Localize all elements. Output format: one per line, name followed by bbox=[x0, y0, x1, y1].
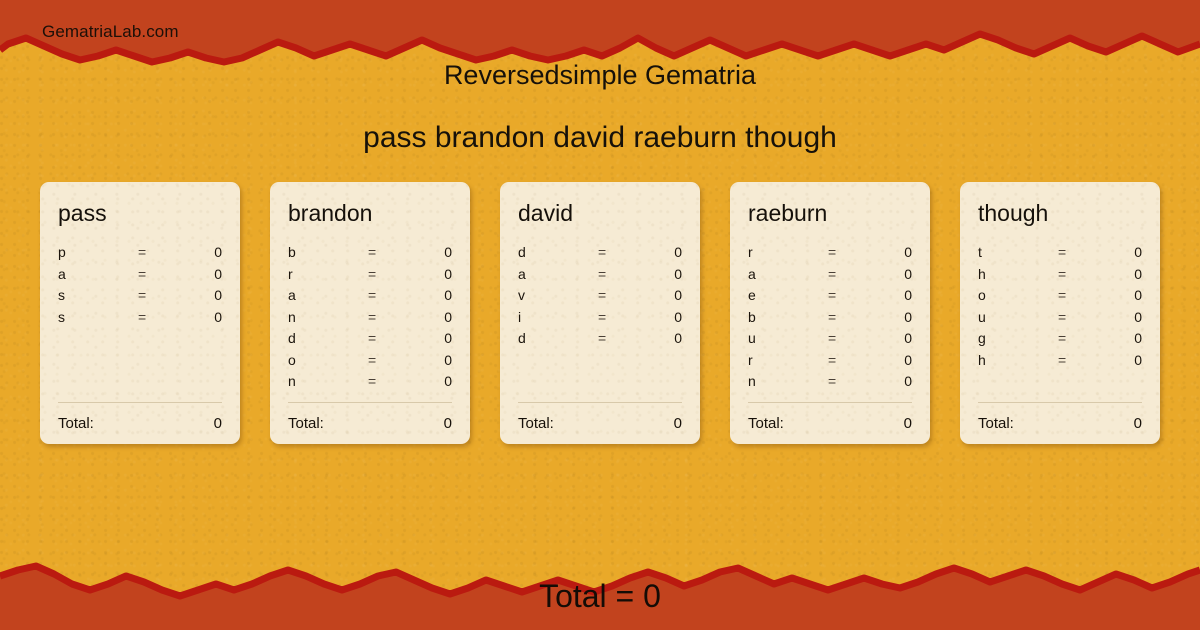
equals-sign: = bbox=[828, 244, 878, 260]
letter-value-row: o=0 bbox=[976, 287, 1144, 309]
letter-label: e bbox=[746, 287, 828, 303]
letter-value: 0 bbox=[188, 266, 224, 282]
card-total-value: 0 bbox=[904, 415, 914, 432]
letter-value: 0 bbox=[878, 352, 914, 368]
letter-value-row: r=0 bbox=[746, 352, 914, 374]
letter-value: 0 bbox=[188, 287, 224, 303]
letter-label: d bbox=[286, 330, 368, 346]
card-total-value: 0 bbox=[674, 415, 684, 432]
letter-value: 0 bbox=[418, 352, 454, 368]
letter-value: 0 bbox=[878, 330, 914, 346]
letter-value: 0 bbox=[648, 287, 684, 303]
card-word-title: raeburn bbox=[748, 202, 914, 232]
word-card: davidd=0a=0v=0i=0d=0Total:0 bbox=[500, 182, 700, 444]
letter-value: 0 bbox=[1108, 309, 1144, 325]
phrase-heading: pass brandon david raeburn though bbox=[0, 121, 1200, 155]
letter-label: i bbox=[516, 309, 598, 325]
grand-total: Total = 0 bbox=[0, 578, 1200, 615]
card-total-value: 0 bbox=[214, 415, 224, 432]
equals-sign: = bbox=[598, 287, 648, 303]
letter-value-row: a=0 bbox=[516, 266, 684, 288]
card-divider bbox=[288, 402, 452, 403]
letter-value-row: r=0 bbox=[286, 266, 454, 288]
card-total-label: Total: bbox=[56, 415, 214, 432]
equals-sign: = bbox=[368, 373, 418, 389]
letter-value: 0 bbox=[878, 309, 914, 325]
card-divider bbox=[58, 402, 222, 403]
card-total-row: Total:0 bbox=[746, 415, 914, 432]
letter-value: 0 bbox=[418, 309, 454, 325]
letter-value-row: b=0 bbox=[286, 244, 454, 266]
letter-value: 0 bbox=[418, 373, 454, 389]
letter-value-row: b=0 bbox=[746, 309, 914, 331]
card-total-label: Total: bbox=[516, 415, 674, 432]
letter-value: 0 bbox=[418, 244, 454, 260]
letter-value-row: h=0 bbox=[976, 266, 1144, 288]
letter-value-row: v=0 bbox=[516, 287, 684, 309]
equals-sign: = bbox=[828, 330, 878, 346]
word-card: brandonb=0r=0a=0n=0d=0o=0n=0Total:0 bbox=[270, 182, 470, 444]
letter-label: r bbox=[286, 266, 368, 282]
card-total-row: Total:0 bbox=[56, 415, 224, 432]
letter-label: a bbox=[56, 266, 138, 282]
equals-sign: = bbox=[828, 287, 878, 303]
equals-sign: = bbox=[368, 330, 418, 346]
equals-sign: = bbox=[138, 287, 188, 303]
letter-value: 0 bbox=[648, 244, 684, 260]
equals-sign: = bbox=[368, 309, 418, 325]
letter-value: 0 bbox=[1108, 352, 1144, 368]
letter-value-row: u=0 bbox=[746, 330, 914, 352]
letter-value-row: d=0 bbox=[516, 330, 684, 352]
letter-label: d bbox=[516, 330, 598, 346]
letter-value-row: a=0 bbox=[746, 266, 914, 288]
card-divider bbox=[748, 402, 912, 403]
letter-label: g bbox=[976, 330, 1058, 346]
equals-sign: = bbox=[828, 373, 878, 389]
letter-label: v bbox=[516, 287, 598, 303]
card-word-title: david bbox=[518, 202, 684, 232]
letter-value-row: a=0 bbox=[286, 287, 454, 309]
equals-sign: = bbox=[828, 352, 878, 368]
letter-value-row: t=0 bbox=[976, 244, 1144, 266]
letter-value-rows: d=0a=0v=0i=0d=0 bbox=[516, 244, 684, 402]
letter-value: 0 bbox=[878, 266, 914, 282]
letter-value-row: n=0 bbox=[286, 373, 454, 395]
word-card-list: passp=0a=0s=0s=0Total:0brandonb=0r=0a=0n… bbox=[40, 182, 1160, 444]
card-total-value: 0 bbox=[444, 415, 454, 432]
equals-sign: = bbox=[138, 244, 188, 260]
letter-label: n bbox=[746, 373, 828, 389]
card-word-title: pass bbox=[58, 202, 224, 232]
letter-label: u bbox=[746, 330, 828, 346]
letter-value-row: e=0 bbox=[746, 287, 914, 309]
letter-label: u bbox=[976, 309, 1058, 325]
letter-value-row: i=0 bbox=[516, 309, 684, 331]
letter-label: h bbox=[976, 352, 1058, 368]
letter-label: d bbox=[516, 244, 598, 260]
card-total-row: Total:0 bbox=[976, 415, 1144, 432]
equals-sign: = bbox=[138, 266, 188, 282]
letter-value-rows: p=0a=0s=0s=0 bbox=[56, 244, 224, 402]
letter-label: b bbox=[746, 309, 828, 325]
card-total-label: Total: bbox=[286, 415, 444, 432]
letter-value: 0 bbox=[648, 309, 684, 325]
letter-value-rows: r=0a=0e=0b=0u=0r=0n=0 bbox=[746, 244, 914, 402]
letter-label: a bbox=[286, 287, 368, 303]
letter-label: h bbox=[976, 266, 1058, 282]
letter-value: 0 bbox=[188, 244, 224, 260]
equals-sign: = bbox=[368, 352, 418, 368]
letter-label: s bbox=[56, 309, 138, 325]
card-total-row: Total:0 bbox=[516, 415, 684, 432]
word-card: passp=0a=0s=0s=0Total:0 bbox=[40, 182, 240, 444]
letter-value: 0 bbox=[1108, 244, 1144, 260]
letter-value-row: n=0 bbox=[286, 309, 454, 331]
letter-value-row: s=0 bbox=[56, 287, 224, 309]
equals-sign: = bbox=[138, 309, 188, 325]
letter-value-row: u=0 bbox=[976, 309, 1144, 331]
letter-label: o bbox=[286, 352, 368, 368]
word-card: thought=0h=0o=0u=0g=0h=0Total:0 bbox=[960, 182, 1160, 444]
letter-label: n bbox=[286, 309, 368, 325]
card-divider bbox=[518, 402, 682, 403]
letter-value-row: a=0 bbox=[56, 266, 224, 288]
letter-value: 0 bbox=[878, 287, 914, 303]
letter-value-row: p=0 bbox=[56, 244, 224, 266]
equals-sign: = bbox=[598, 330, 648, 346]
card-total-row: Total:0 bbox=[286, 415, 454, 432]
letter-value: 0 bbox=[1108, 266, 1144, 282]
equals-sign: = bbox=[1058, 309, 1108, 325]
letter-value-row: s=0 bbox=[56, 309, 224, 331]
letter-value-row: g=0 bbox=[976, 330, 1144, 352]
letter-label: n bbox=[286, 373, 368, 389]
letter-label: r bbox=[746, 244, 828, 260]
equals-sign: = bbox=[598, 244, 648, 260]
card-divider bbox=[978, 402, 1142, 403]
letter-value-row: d=0 bbox=[516, 244, 684, 266]
card-total-value: 0 bbox=[1134, 415, 1144, 432]
word-card: raeburnr=0a=0e=0b=0u=0r=0n=0Total:0 bbox=[730, 182, 930, 444]
letter-value: 0 bbox=[418, 266, 454, 282]
equals-sign: = bbox=[368, 244, 418, 260]
letter-value: 0 bbox=[1108, 330, 1144, 346]
letter-label: o bbox=[976, 287, 1058, 303]
card-word-title: brandon bbox=[288, 202, 454, 232]
card-total-label: Total: bbox=[976, 415, 1134, 432]
letter-label: r bbox=[746, 352, 828, 368]
equals-sign: = bbox=[1058, 352, 1108, 368]
site-logo[interactable]: GematriaLab.com bbox=[42, 22, 179, 42]
equals-sign: = bbox=[1058, 330, 1108, 346]
equals-sign: = bbox=[1058, 244, 1108, 260]
equals-sign: = bbox=[598, 266, 648, 282]
equals-sign: = bbox=[598, 309, 648, 325]
letter-label: a bbox=[746, 266, 828, 282]
letter-value-rows: b=0r=0a=0n=0d=0o=0n=0 bbox=[286, 244, 454, 402]
letter-label: a bbox=[516, 266, 598, 282]
letter-value: 0 bbox=[418, 287, 454, 303]
equals-sign: = bbox=[828, 266, 878, 282]
card-word-title: though bbox=[978, 202, 1144, 232]
letter-value: 0 bbox=[1108, 287, 1144, 303]
letter-value: 0 bbox=[418, 330, 454, 346]
letter-value-rows: t=0h=0o=0u=0g=0h=0 bbox=[976, 244, 1144, 402]
letter-value: 0 bbox=[878, 373, 914, 389]
equals-sign: = bbox=[828, 309, 878, 325]
letter-label: p bbox=[56, 244, 138, 260]
letter-value-row: n=0 bbox=[746, 373, 914, 395]
letter-value-row: o=0 bbox=[286, 352, 454, 374]
letter-value: 0 bbox=[878, 244, 914, 260]
card-total-label: Total: bbox=[746, 415, 904, 432]
letter-value: 0 bbox=[648, 330, 684, 346]
page-title: Reversedsimple Gematria bbox=[0, 60, 1200, 91]
equals-sign: = bbox=[368, 266, 418, 282]
letter-label: b bbox=[286, 244, 368, 260]
letter-value: 0 bbox=[188, 309, 224, 325]
letter-label: t bbox=[976, 244, 1058, 260]
letter-value-row: r=0 bbox=[746, 244, 914, 266]
letter-value-row: d=0 bbox=[286, 330, 454, 352]
equals-sign: = bbox=[1058, 287, 1108, 303]
letter-label: s bbox=[56, 287, 138, 303]
letter-value-row: h=0 bbox=[976, 352, 1144, 374]
equals-sign: = bbox=[368, 287, 418, 303]
poster-canvas: GematriaLab.com Reversedsimple Gematria … bbox=[0, 0, 1200, 630]
letter-value: 0 bbox=[648, 266, 684, 282]
equals-sign: = bbox=[1058, 266, 1108, 282]
